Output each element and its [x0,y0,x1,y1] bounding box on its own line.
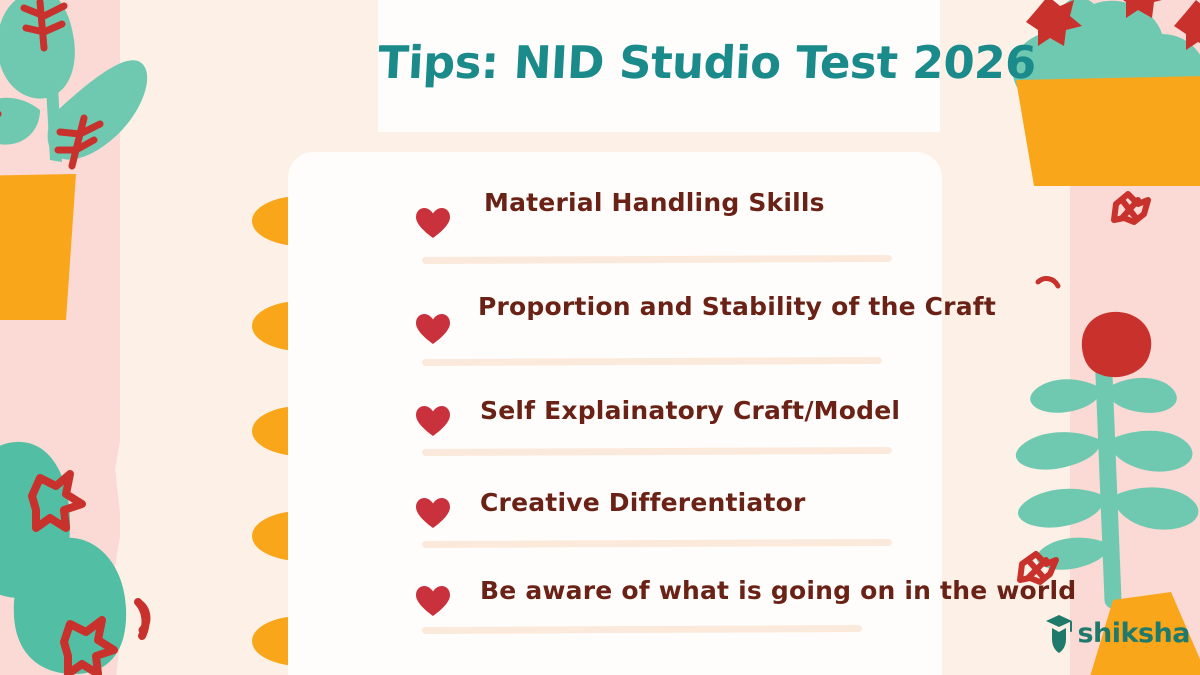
graduation-cap-icon [1044,613,1074,653]
list-item[interactable]: Proportion and Stability of the Craft [288,300,1078,405]
list-item[interactable]: Material Handling Skills [288,198,1078,303]
row-divider [422,255,892,264]
shiksha-logo[interactable]: shiksha [1044,613,1190,653]
list-item-label: Material Handling Skills [484,188,825,217]
list-item-label: Self Explainatory Craft/Model [480,396,900,425]
row-divider [422,447,892,456]
heart-icon [416,208,450,239]
row-divider [422,625,862,634]
list-item-label: Be aware of what is going on in the worl… [480,576,1076,605]
heart-icon [416,314,450,345]
cactus-icon [0,430,180,675]
heart-icon [416,586,450,617]
brand-name: shiksha [1077,618,1190,649]
small-flower-icon-1 [1106,188,1152,234]
list-item[interactable]: Be aware of what is going on in the worl… [288,576,1078,675]
list-item-label: Proportion and Stability of the Craft [478,292,996,321]
tips-list: Material Handling Skills Proportion and … [288,152,1078,675]
page-title: Tips: NID Studio Test 2026 [377,36,942,89]
row-divider [422,357,882,366]
small-flower-icon-4 [128,596,164,636]
potted-plant-icon [0,0,168,320]
heart-icon [416,498,450,529]
heart-icon [416,406,450,437]
title-band: Tips: NID Studio Test 2026 [378,0,940,132]
list-item-label: Creative Differentiator [480,488,806,517]
poster-canvas: Tips: NID Studio Test 2026 Material Hand… [0,0,1200,675]
row-divider [422,539,892,548]
